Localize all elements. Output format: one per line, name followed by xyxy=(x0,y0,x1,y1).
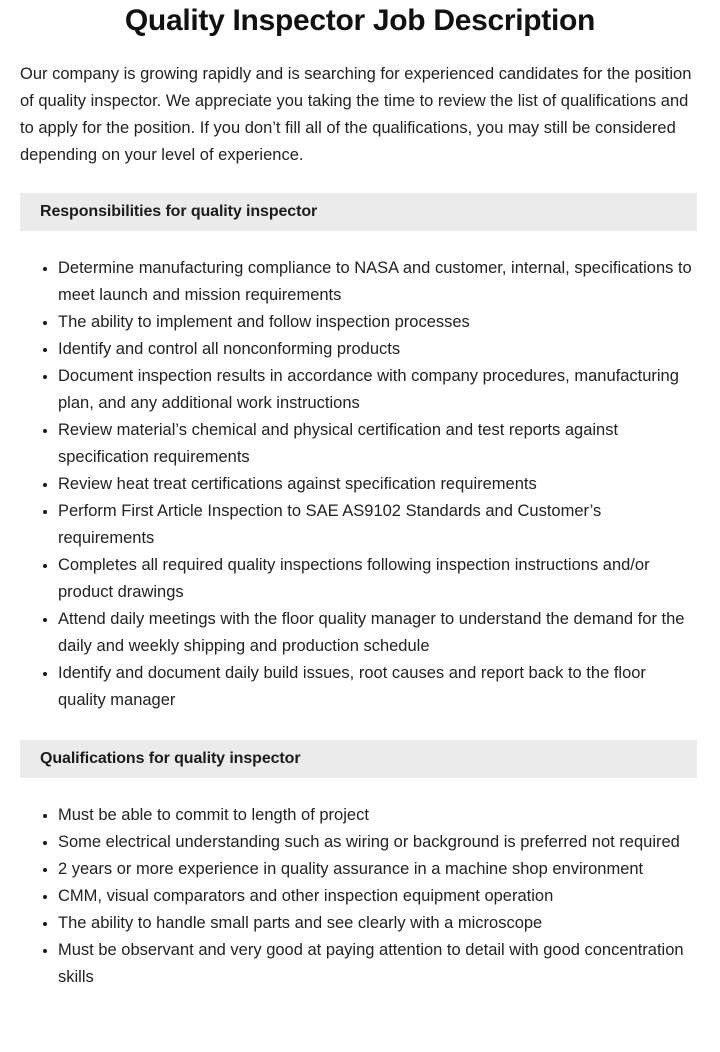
list-item-text: Completes all required quality inspectio… xyxy=(58,556,650,601)
qualifications-list: Must be able to commit to length of proj… xyxy=(0,802,720,991)
list-item: The ability to implement and follow insp… xyxy=(43,309,697,336)
list-item: Identify and control all nonconforming p… xyxy=(43,336,697,363)
list-item-text: Must be able to commit to length of proj… xyxy=(58,806,369,824)
section-heading-label: Responsibilities for quality inspector xyxy=(40,203,317,221)
list-item: Attend daily meetings with the floor qua… xyxy=(43,606,697,660)
list-item: Review heat treat certifications against… xyxy=(43,471,697,498)
list-item-text: The ability to implement and follow insp… xyxy=(58,313,470,331)
list-item: Identify and document daily build issues… xyxy=(43,660,697,714)
spacer-after-qualifications-header xyxy=(0,778,720,802)
list-item-text: Identify and control all nonconforming p… xyxy=(58,340,400,358)
list-item: Determine manufacturing compliance to NA… xyxy=(43,255,697,309)
list-item-text: The ability to handle small parts and se… xyxy=(58,914,542,932)
page-title: Quality Inspector Job Description xyxy=(0,0,720,39)
list-item-text: Determine manufacturing compliance to NA… xyxy=(58,259,692,304)
list-item: The ability to handle small parts and se… xyxy=(43,910,697,937)
list-item: Review material’s chemical and physical … xyxy=(43,417,697,471)
list-item-text: 2 years or more experience in quality as… xyxy=(58,860,643,878)
list-item-text: Perform First Article Inspection to SAE … xyxy=(58,502,601,547)
spacer-before-responsibilities xyxy=(0,169,720,193)
spacer-before-qualifications xyxy=(0,714,720,740)
section-header-qualifications: Qualifications for quality inspector xyxy=(20,740,697,778)
list-item-text: Review material’s chemical and physical … xyxy=(58,421,618,466)
list-item-text: Document inspection results in accordanc… xyxy=(58,367,679,412)
list-item-text: Must be observant and very good at payin… xyxy=(58,941,684,986)
spacer-after-responsibilities-header xyxy=(0,231,720,255)
intro-paragraph: Our company is growing rapidly and is se… xyxy=(0,39,720,169)
list-item: Some electrical understanding such as wi… xyxy=(43,829,697,856)
job-description-document: Quality Inspector Job Description Our co… xyxy=(0,0,720,991)
list-item: 2 years or more experience in quality as… xyxy=(43,856,697,883)
list-item: Document inspection results in accordanc… xyxy=(43,363,697,417)
list-item: Must be able to commit to length of proj… xyxy=(43,802,697,829)
list-item-text: Some electrical understanding such as wi… xyxy=(58,833,680,851)
list-item-text: Identify and document daily build issues… xyxy=(58,664,646,709)
list-item-text: Review heat treat certifications against… xyxy=(58,475,537,493)
list-item: Perform First Article Inspection to SAE … xyxy=(43,498,697,552)
list-item-text: CMM, visual comparators and other inspec… xyxy=(58,887,553,905)
list-item: Must be observant and very good at payin… xyxy=(43,937,697,991)
responsibilities-list: Determine manufacturing compliance to NA… xyxy=(0,255,720,714)
list-item-text: Attend daily meetings with the floor qua… xyxy=(58,610,684,655)
list-item: CMM, visual comparators and other inspec… xyxy=(43,883,697,910)
section-heading-label: Qualifications for quality inspector xyxy=(40,750,300,768)
list-item: Completes all required quality inspectio… xyxy=(43,552,697,606)
section-header-responsibilities: Responsibilities for quality inspector xyxy=(20,193,697,231)
